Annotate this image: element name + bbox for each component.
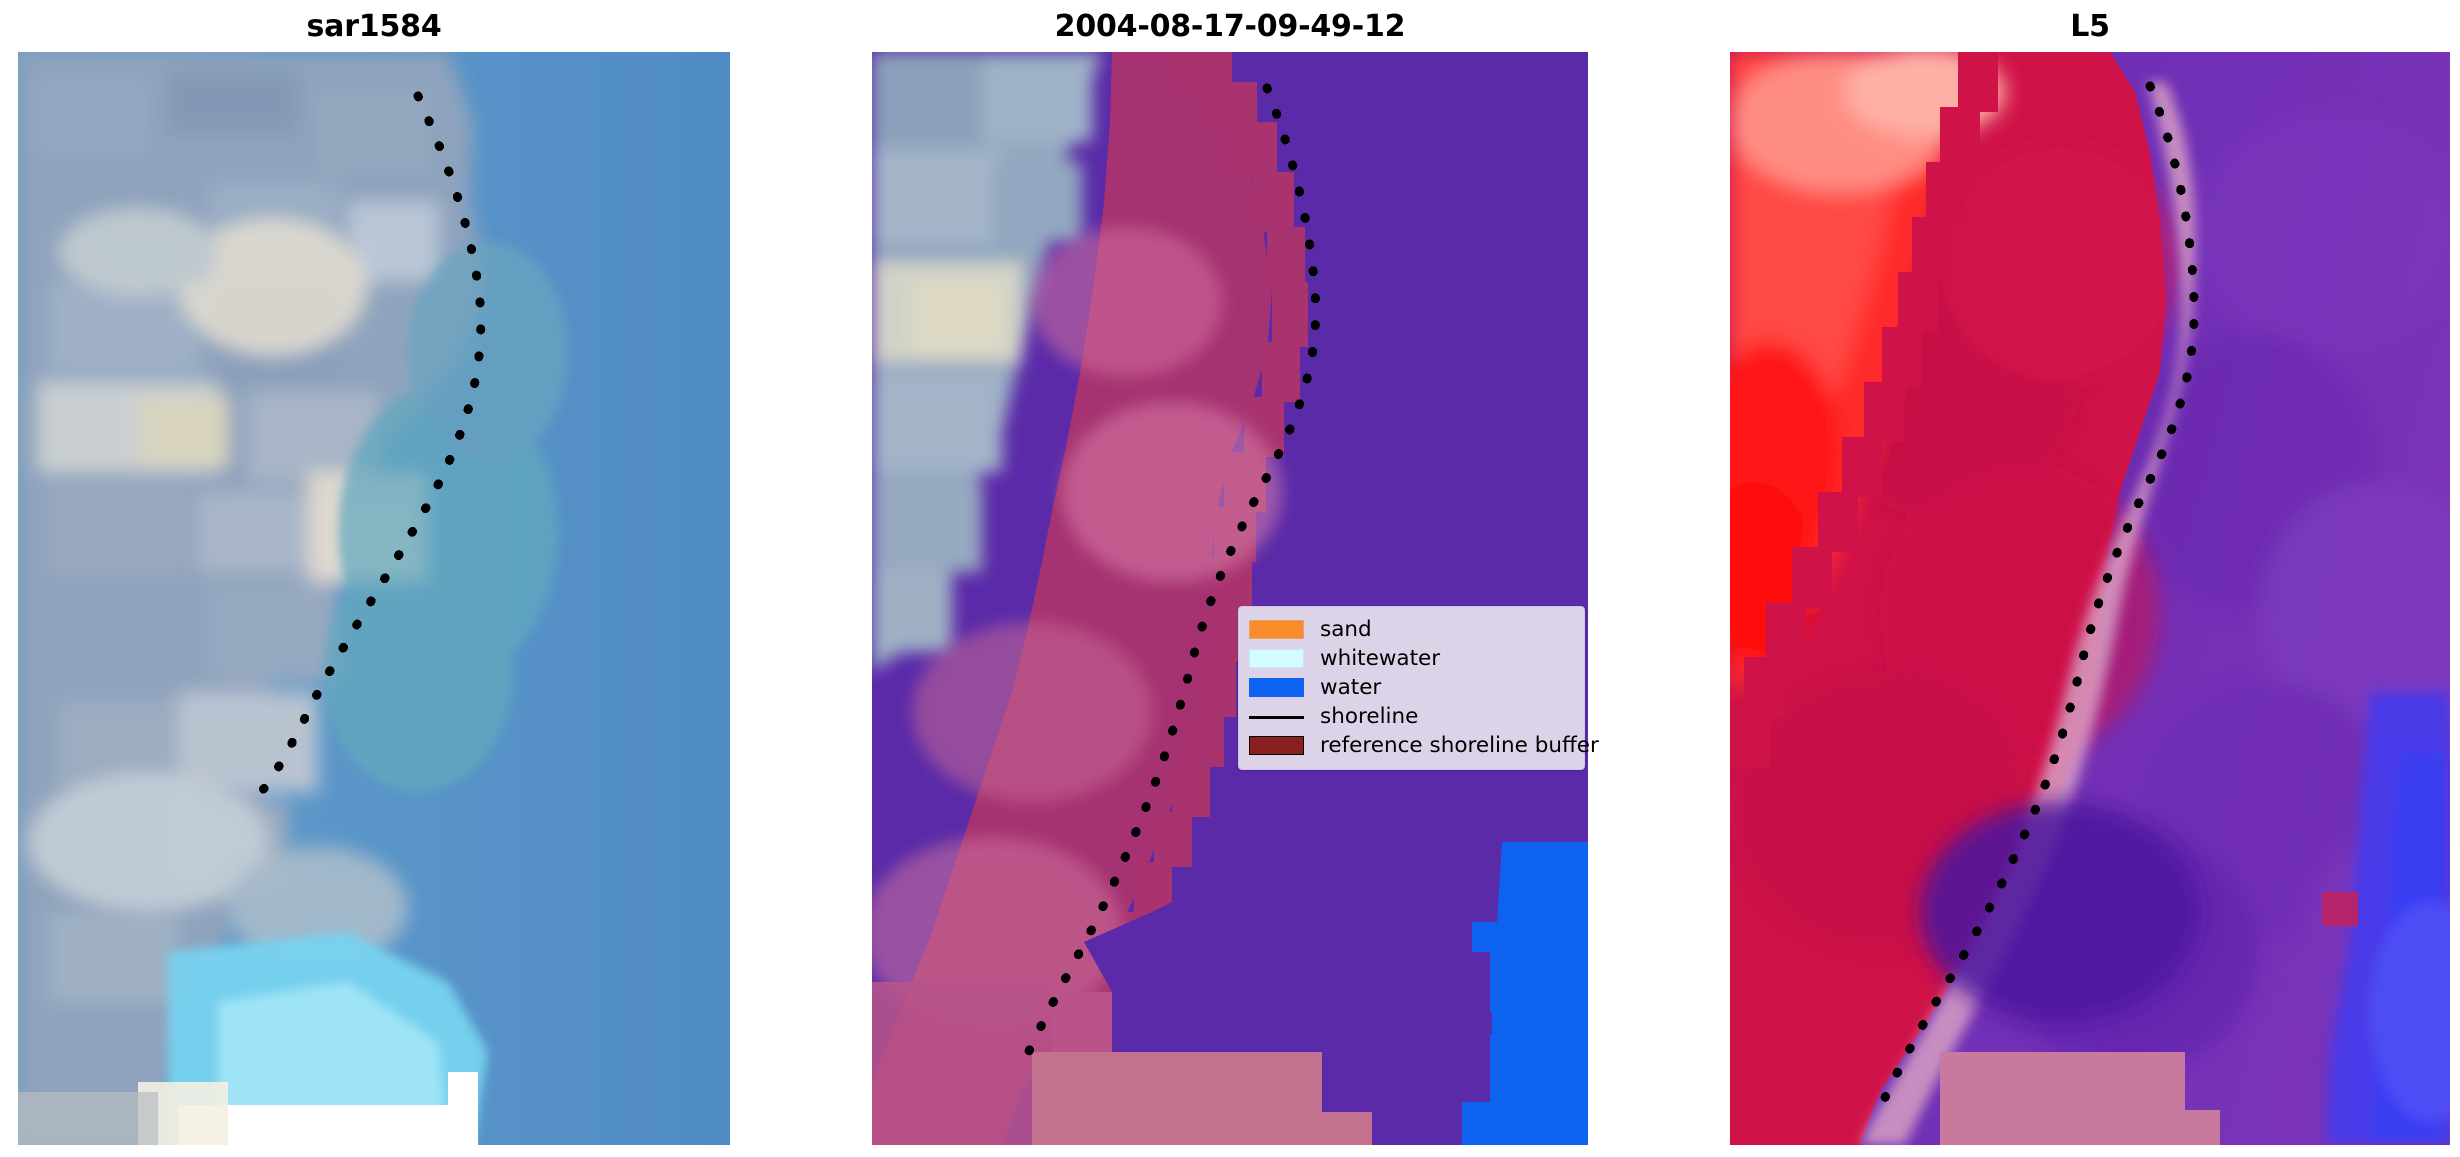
panel-classified[interactable] — [872, 52, 1588, 1145]
water-swatch — [1249, 678, 1304, 697]
sar-image-canvas — [18, 52, 730, 1145]
reference-shoreline-buffer-swatch — [1249, 736, 1304, 755]
shoreline-line-swatch — [1249, 707, 1304, 726]
legend-label-water: water — [1320, 677, 1381, 699]
panel-l5[interactable] — [1730, 52, 2450, 1145]
l5-image-canvas — [1730, 52, 2450, 1145]
legend-item-shoreline: shoreline — [1249, 702, 1574, 731]
panel-sar1584[interactable] — [18, 52, 730, 1145]
sand-swatch — [1249, 620, 1304, 639]
panel-title-classified-text: 2004-08-17-09-49-12 — [872, 6, 1588, 48]
legend-label-whitewater: whitewater — [1320, 648, 1440, 670]
legend-item-sand: sand — [1249, 615, 1574, 644]
legend-item-whitewater: whitewater — [1249, 644, 1574, 673]
panel-title-sar-text: sar1584 — [18, 6, 730, 48]
legend-label-shoreline: shoreline — [1320, 706, 1418, 728]
panel-title-l5: L5 — [1730, 6, 2450, 48]
legend-label-reference-shoreline-buffer: reference shoreline buffer — [1320, 735, 1599, 757]
legend-label-sand: sand — [1320, 619, 1372, 641]
legend-item-reference-shoreline-buffer: reference shoreline buffer — [1249, 731, 1574, 760]
panel-title-classified: 2004-08-17-09-49-12 — [872, 6, 1588, 48]
panel-title-sar: sar1584 — [18, 6, 730, 48]
classified-image-canvas — [872, 52, 1588, 1145]
legend: sand whitewater water shoreline referenc… — [1238, 606, 1585, 770]
whitewater-swatch — [1249, 649, 1304, 668]
panel-title-l5-text: L5 — [1730, 6, 2450, 48]
legend-item-water: water — [1249, 673, 1574, 702]
figure-root: sar1584 — [0, 0, 2460, 1157]
